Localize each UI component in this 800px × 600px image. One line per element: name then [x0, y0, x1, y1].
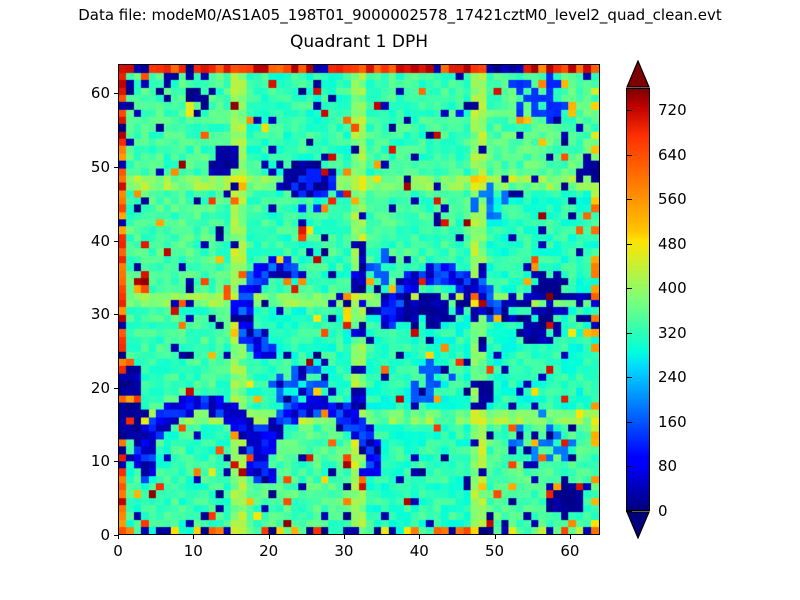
y-tick-mark [114, 93, 118, 94]
y-tick-label: 20 [74, 379, 110, 397]
y-tick-label: 50 [74, 158, 110, 176]
colorbar-tick-label: 0 [658, 502, 668, 520]
y-tick-label: 10 [74, 452, 110, 470]
colorbar-tick-label: 560 [658, 190, 687, 208]
colorbar-tick-label: 160 [658, 413, 687, 431]
colorbar-tick-label: 720 [658, 101, 687, 119]
colorbar[interactable]: 080160240320400480560640720 [626, 60, 652, 540]
y-tick-mark [114, 535, 118, 536]
colorbar-gradient-canvas [627, 89, 649, 510]
x-tick-mark [495, 535, 496, 539]
colorbar-min-arrow-icon [626, 511, 650, 539]
colorbar-max-arrow-icon [626, 60, 650, 88]
colorbar-tick-mark [626, 110, 632, 111]
y-tick-mark [114, 167, 118, 168]
x-tick-label: 40 [410, 542, 429, 560]
x-tick-label: 0 [113, 542, 123, 560]
colorbar-tick-mark [626, 511, 632, 512]
colorbar-tick-label: 320 [658, 324, 687, 342]
y-tick-mark [114, 314, 118, 315]
figure-suptitle: Data file: modeM0/AS1A05_198T01_90000025… [0, 6, 800, 24]
colorbar-tick-mark [626, 466, 632, 467]
y-tick-mark [114, 461, 118, 462]
colorbar-tick-mark [626, 244, 632, 245]
colorbar-tick-label: 480 [658, 235, 687, 253]
x-tick-mark [419, 535, 420, 539]
colorbar-tick-label: 640 [658, 146, 687, 164]
y-tick-label: 60 [74, 84, 110, 102]
y-tick-label: 40 [74, 232, 110, 250]
x-tick-label: 20 [259, 542, 278, 560]
y-tick-label: 0 [74, 526, 110, 544]
x-tick-mark [193, 535, 194, 539]
x-tick-mark [118, 535, 119, 539]
y-tick-label: 30 [74, 305, 110, 323]
colorbar-tick-label: 400 [658, 279, 687, 297]
x-tick-label: 30 [334, 542, 353, 560]
heatmap-axes[interactable] [118, 64, 600, 535]
colorbar-tick-mark [626, 422, 632, 423]
x-tick-mark [269, 535, 270, 539]
colorbar-tick-mark [626, 155, 632, 156]
colorbar-gradient [626, 88, 650, 511]
colorbar-tick-mark [626, 333, 632, 334]
y-tick-mark [114, 241, 118, 242]
x-tick-label: 60 [560, 542, 579, 560]
figure-canvas: Data file: modeM0/AS1A05_198T01_90000025… [0, 0, 800, 600]
colorbar-tick-mark [626, 377, 632, 378]
colorbar-tick-mark [626, 288, 632, 289]
y-tick-mark [114, 388, 118, 389]
colorbar-tick-label: 240 [658, 368, 687, 386]
x-tick-label: 50 [485, 542, 504, 560]
x-tick-mark [570, 535, 571, 539]
heatmap-image [119, 65, 599, 534]
x-tick-mark [344, 535, 345, 539]
plot-title: Quadrant 1 DPH [118, 32, 600, 52]
colorbar-tick-label: 80 [658, 457, 677, 475]
x-tick-label: 10 [184, 542, 203, 560]
colorbar-tick-mark [626, 199, 632, 200]
